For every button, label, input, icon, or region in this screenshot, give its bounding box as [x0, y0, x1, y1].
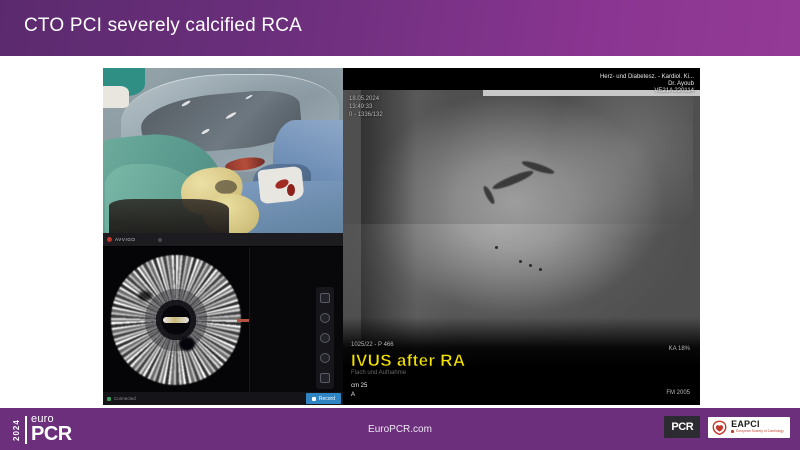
- photo-dark-foreground: [109, 199, 229, 233]
- footer-logos: PCR EAPCI European Society of Cardiology: [664, 416, 790, 438]
- ivus-scale-marker: [237, 319, 249, 322]
- angio-projection-label: A: [351, 392, 355, 400]
- ivus-status-bar: Connected Record: [103, 392, 343, 405]
- blood-spot: [287, 184, 295, 196]
- ivus-toolbar-icon[interactable]: [158, 238, 162, 242]
- hand-shadow: [215, 180, 237, 194]
- record-icon: [312, 397, 316, 401]
- angio-frame-counter: 0 - 1336/132: [349, 112, 383, 120]
- cath-lab-photo: [103, 68, 343, 233]
- lung-field: [550, 86, 693, 242]
- heart-icon: [712, 420, 727, 435]
- ivus-calcium-shadow: [138, 291, 152, 301]
- media-content-area: AVVIGO +: [103, 68, 700, 405]
- angio-annotation-label: IVUS after RA: [351, 351, 465, 371]
- ivus-record-label: Record: [319, 396, 335, 402]
- page-title: CTO PCI severely calcified RCA: [24, 15, 302, 37]
- slide: CTO PCI severely calcified RCA: [0, 0, 800, 450]
- ivus-control-play-icon[interactable]: [320, 293, 330, 303]
- slide-footer: 2024 euro PCR EuroPCR.com PCR EAPCI: [0, 408, 800, 450]
- ivus-catheter-artifact: [163, 317, 189, 323]
- slide-header: CTO PCI severely calcified RCA: [0, 0, 800, 56]
- left-media-column: AVVIGO +: [103, 68, 343, 405]
- ivus-calcium-shadow: [179, 337, 195, 351]
- pcr-logo-badge: PCR: [664, 416, 700, 438]
- mask-shape: [103, 86, 129, 108]
- ivus-logo-icon: [107, 237, 112, 242]
- ivus-control-measure-icon[interactable]: [320, 353, 330, 363]
- eapci-logo-badge: EAPCI European Society of Cardiology: [708, 417, 790, 438]
- fluoroscopy-image: [343, 68, 700, 368]
- eapci-subtitle: European Society of Cardiology: [736, 429, 784, 434]
- angio-series-info: 1025/22 - P 466: [351, 342, 394, 350]
- ivus-side-panel: [249, 247, 343, 392]
- ivus-control-strip: [316, 287, 334, 389]
- guidewire-marker: [519, 260, 522, 263]
- ivus-status-indicator-icon: [107, 397, 111, 401]
- guidewire-marker: [539, 268, 542, 271]
- guidewire-marker: [495, 246, 498, 249]
- angio-acq-date: 18.05.2024: [349, 96, 379, 104]
- ivus-console-panel: AVVIGO +: [103, 233, 343, 405]
- ivus-status-group: Connected: [107, 396, 136, 401]
- ivus-record-button[interactable]: Record: [306, 393, 341, 404]
- ivus-tick-mark: +: [173, 263, 176, 269]
- eapci-text-block: EAPCI European Society of Cardiology: [731, 420, 784, 434]
- ivus-control-capture-icon[interactable]: [320, 333, 330, 343]
- angio-scale-label: cm 25: [351, 383, 367, 391]
- ivus-control-settings-icon[interactable]: [320, 313, 330, 323]
- angio-projection-info: Flach und Aufnahme: [351, 370, 406, 378]
- coronary-vessel-segment: [491, 168, 535, 192]
- ivus-system-label: AVVIGO: [115, 237, 136, 242]
- guidewire-marker: [529, 264, 532, 267]
- ivus-control-extra-icon[interactable]: [320, 373, 330, 383]
- angiography-panel: 18.05.2024 13:49:33 0 - 1336/132 Herz- u…: [343, 68, 700, 405]
- eapci-name: EAPCI: [731, 420, 784, 429]
- angio-dose-label: KA 18%: [669, 346, 690, 354]
- angio-study-id: VE21A 220114: [654, 88, 694, 96]
- angio-acq-time: 13:49:33: [349, 104, 372, 112]
- footer-website-label: EuroPCR.com: [368, 424, 432, 435]
- ivus-toolbar: AVVIGO: [103, 233, 343, 247]
- ivus-cross-section-image: +: [103, 247, 249, 392]
- ivus-status-label: Connected: [114, 396, 136, 401]
- eapci-subtitle-row: European Society of Cardiology: [731, 429, 784, 434]
- esc-mark-icon: [731, 430, 734, 433]
- angio-frame-label: FM 2005: [666, 390, 690, 398]
